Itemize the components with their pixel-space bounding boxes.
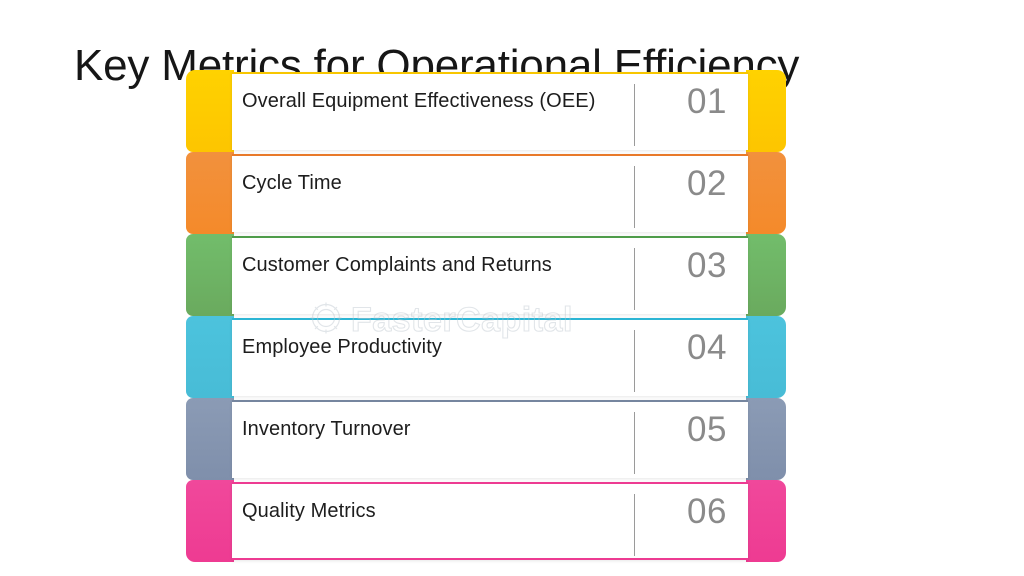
metric-row[interactable]: Customer Complaints and Returns03	[186, 234, 786, 316]
metric-card[interactable]: Customer Complaints and Returns03	[232, 236, 748, 314]
metric-card[interactable]: Cycle Time02	[232, 154, 748, 232]
metric-row[interactable]: Quality Metrics06	[186, 480, 786, 562]
row-color-bar-left	[186, 480, 234, 562]
row-color-bar-right	[746, 398, 786, 480]
metric-row[interactable]: Employee Productivity04	[186, 316, 786, 398]
metric-divider	[634, 84, 635, 146]
metric-divider	[634, 248, 635, 310]
metric-label: Overall Equipment Effectiveness (OEE)	[242, 90, 595, 113]
metric-label: Cycle Time	[242, 172, 342, 195]
metric-label: Employee Productivity	[242, 336, 442, 359]
metric-number: 05	[672, 410, 742, 450]
row-color-bar-left	[186, 234, 234, 316]
metric-row[interactable]: Cycle Time02	[186, 152, 786, 234]
row-color-bar-left	[186, 70, 234, 152]
row-color-bar-right	[746, 234, 786, 316]
metric-number: 01	[672, 82, 742, 122]
metric-card[interactable]: Overall Equipment Effectiveness (OEE)01	[232, 72, 748, 150]
metric-label: Quality Metrics	[242, 500, 376, 523]
metric-label: Inventory Turnover	[242, 418, 411, 441]
row-color-bar-left	[186, 398, 234, 480]
metric-card[interactable]: Quality Metrics06	[232, 482, 748, 560]
metric-card[interactable]: Inventory Turnover05	[232, 400, 748, 478]
metric-divider	[634, 330, 635, 392]
metric-divider	[634, 166, 635, 228]
metric-label: Customer Complaints and Returns	[242, 254, 552, 277]
metric-card[interactable]: Employee Productivity04	[232, 318, 748, 396]
metric-divider	[634, 412, 635, 474]
row-color-bar-right	[746, 316, 786, 398]
row-color-bar-right	[746, 152, 786, 234]
metrics-list: Overall Equipment Effectiveness (OEE)01C…	[186, 70, 786, 562]
row-color-bar-right	[746, 70, 786, 152]
metric-number: 03	[672, 246, 742, 286]
row-color-bar-left	[186, 152, 234, 234]
metric-number: 04	[672, 328, 742, 368]
metric-row[interactable]: Overall Equipment Effectiveness (OEE)01	[186, 70, 786, 152]
metric-number: 06	[672, 492, 742, 532]
metric-row[interactable]: Inventory Turnover05	[186, 398, 786, 480]
row-color-bar-right	[746, 480, 786, 562]
metric-divider	[634, 494, 635, 556]
row-color-bar-left	[186, 316, 234, 398]
metric-number: 02	[672, 164, 742, 204]
